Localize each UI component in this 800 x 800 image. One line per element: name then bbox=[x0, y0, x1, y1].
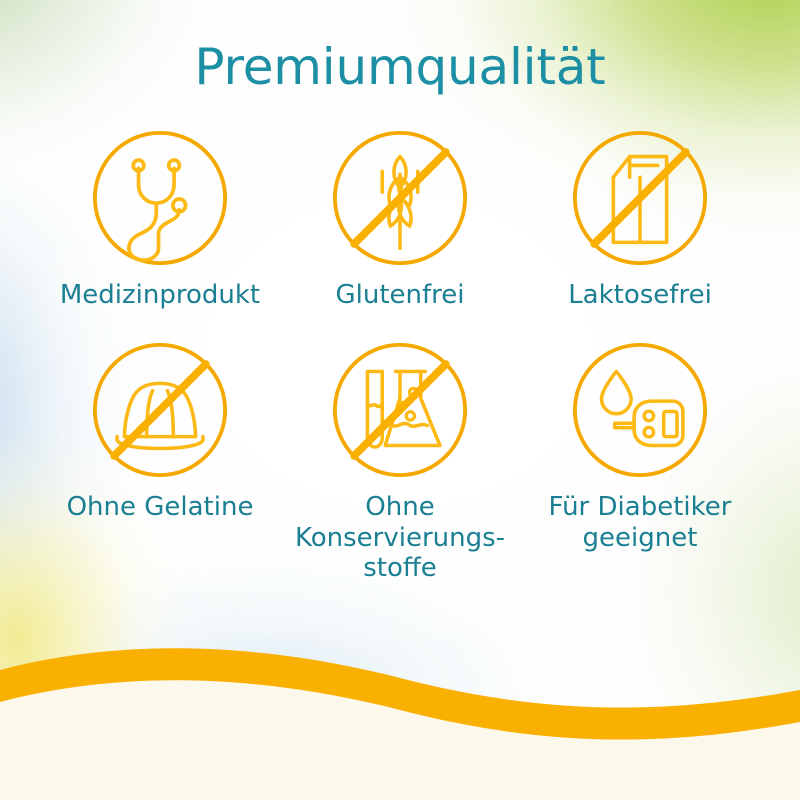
blood-drop-glucose-meter-icon bbox=[566, 336, 714, 484]
feature-label: Laktosefrei bbox=[528, 280, 753, 310]
premium-quality-infographic: Premiumqualität bbox=[0, 0, 800, 800]
feature-row-bottom: Ohne Gelatine bbox=[0, 336, 800, 583]
feature-label: Ohne Gelatine bbox=[53, 492, 268, 522]
feature-item-ohne-konservierungsstoffe[interactable]: Ohne Konservierungs-stoffe bbox=[280, 336, 520, 583]
feature-label: Für Diabetikergeeignet bbox=[533, 492, 748, 553]
feature-item-glutenfrei[interactable]: Glutenfrei bbox=[280, 124, 520, 310]
feature-label: Glutenfrei bbox=[288, 280, 513, 310]
feature-label: Ohne Konservierungs-stoffe bbox=[293, 492, 508, 583]
feature-item-ohne-gelatine[interactable]: Ohne Gelatine bbox=[40, 336, 280, 522]
feature-item-fuer-diabetiker-geeignet[interactable]: Für Diabetikergeeignet bbox=[520, 336, 760, 553]
stethoscope-icon bbox=[86, 124, 234, 272]
feature-label: Medizinprodukt bbox=[48, 280, 273, 310]
feature-row-top: Medizinprodukt bbox=[0, 124, 800, 310]
feature-grid-container: Premiumqualität bbox=[0, 0, 800, 800]
test-tube-flask-icon bbox=[326, 336, 474, 484]
wheat-icon bbox=[326, 124, 474, 272]
page-title: Premiumqualität bbox=[0, 38, 800, 96]
milk-carton-icon bbox=[566, 124, 714, 272]
feature-item-medizinprodukt[interactable]: Medizinprodukt bbox=[40, 124, 280, 310]
feature-grid: Medizinprodukt bbox=[0, 124, 800, 584]
jelly-pudding-icon bbox=[86, 336, 234, 484]
feature-item-laktosefrei[interactable]: Laktosefrei bbox=[520, 124, 760, 310]
